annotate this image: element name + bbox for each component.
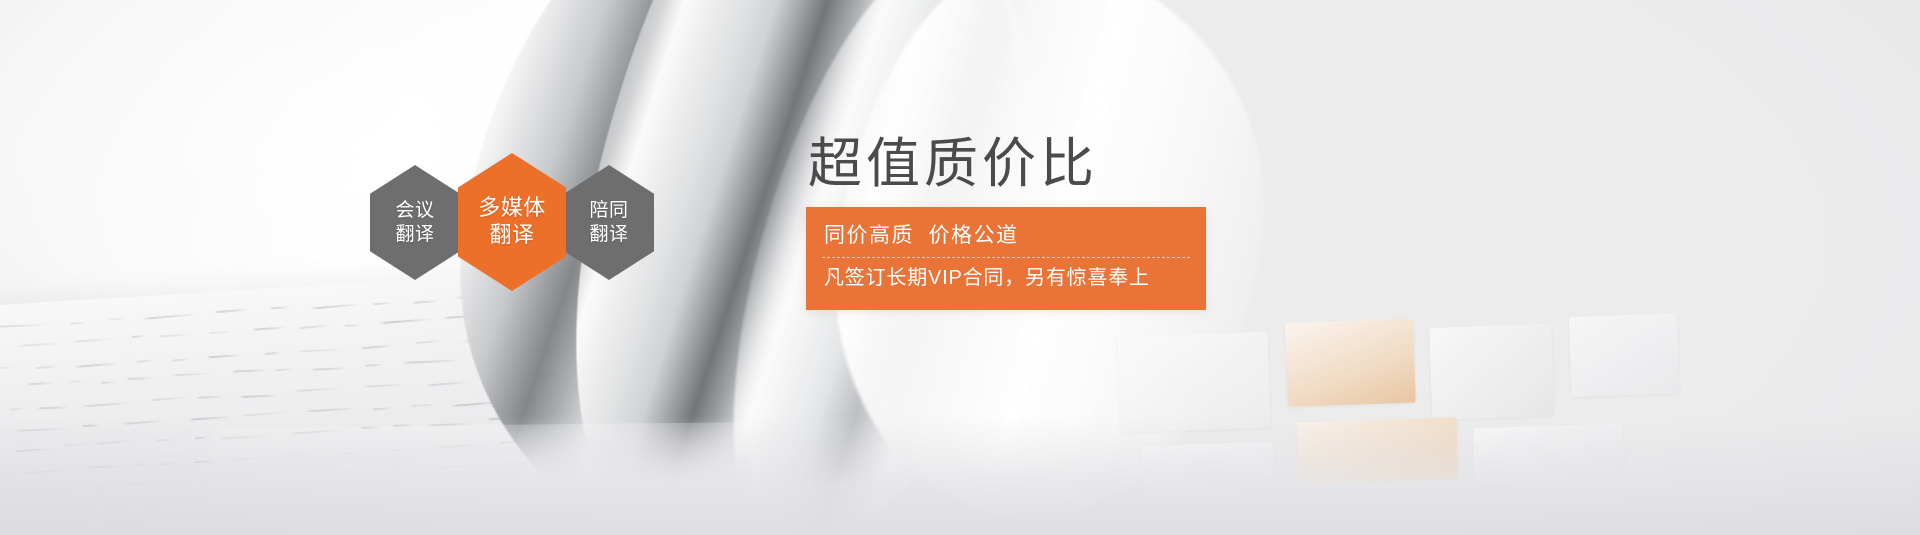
banner-copy: 超值质价比 同价高质 价格公道 凡签订长期VIP合同，另有惊喜奉上 — [806, 136, 1226, 310]
hexagon-multimedia-translation[interactable]: 多媒体 翻译 — [458, 153, 566, 291]
promo-box: 同价高质 价格公道 凡签订长期VIP合同，另有惊喜奉上 — [806, 207, 1206, 310]
hexagon-label: 多媒体 翻译 — [478, 195, 546, 249]
service-hexagon-group: 会议 翻译 多媒体 翻译 陪同 翻译 — [370, 165, 652, 291]
page-title: 超值质价比 — [808, 136, 1226, 193]
promo-line-primary: 同价高质 价格公道 — [806, 218, 1206, 255]
hexagon-label: 陪同 翻译 — [589, 199, 628, 245]
promo-line-secondary: 凡签订长期VIP合同，另有惊喜奉上 — [806, 261, 1206, 297]
hexagon-escort-translation[interactable]: 陪同 翻译 — [564, 165, 654, 280]
hexagon-conference-translation[interactable]: 会议 翻译 — [370, 165, 460, 280]
promo-divider — [822, 257, 1190, 258]
hexagon-label: 会议 翻译 — [395, 199, 434, 245]
promo-banner: 会议 翻译 多媒体 翻译 陪同 翻译 超值质价比 同价高质 价格公道 凡签订长期… — [0, 0, 1920, 535]
